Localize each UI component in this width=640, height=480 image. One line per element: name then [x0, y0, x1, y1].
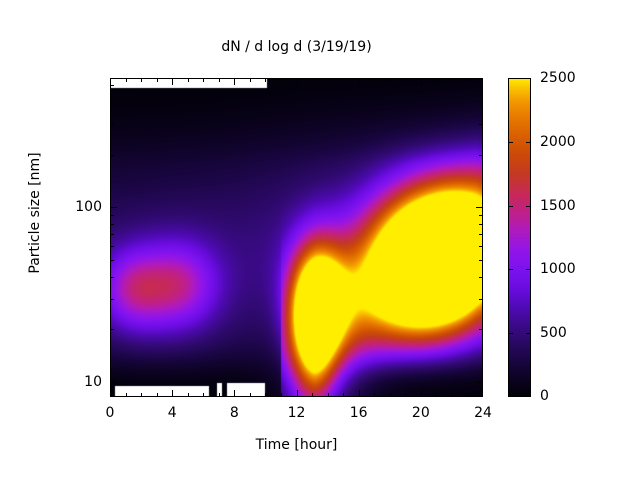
y-minor-tick [479, 260, 483, 261]
x-minor-tick [265, 78, 266, 82]
y-minor-tick [110, 102, 114, 103]
x-major-tick [172, 78, 173, 85]
y-minor-tick [479, 155, 483, 156]
x-tick-label: 0 [106, 405, 115, 421]
colorbar-tick-label: 1500 [540, 198, 576, 214]
x-major-tick [110, 78, 111, 85]
x-major-tick [172, 390, 173, 397]
x-major-tick [359, 390, 360, 397]
x-minor-tick [265, 393, 266, 397]
y-minor-tick [110, 85, 114, 86]
x-minor-tick [390, 78, 391, 82]
colorbar-tick [526, 142, 531, 143]
x-minor-tick [219, 78, 220, 82]
x-minor-tick [436, 78, 437, 82]
y-minor-tick [479, 277, 483, 278]
x-minor-tick [203, 393, 204, 397]
x-major-tick [482, 390, 483, 397]
x-minor-tick [328, 393, 329, 397]
colorbar-tick [526, 206, 531, 207]
x-minor-tick [390, 393, 391, 397]
x-major-tick [421, 390, 422, 397]
y-minor-tick [110, 224, 114, 225]
y-minor-tick [479, 234, 483, 235]
x-minor-tick [452, 78, 453, 82]
x-tick-label: 24 [474, 405, 492, 421]
x-tick-label: 8 [230, 405, 239, 421]
colorbar-tick [526, 333, 531, 334]
x-minor-tick [157, 393, 158, 397]
y-minor-tick [479, 246, 483, 247]
colorbar-tick-label: 0 [540, 388, 549, 404]
colorbar-tick [508, 269, 513, 270]
x-minor-tick [374, 78, 375, 82]
colorbar-gradient [508, 78, 531, 397]
x-minor-tick [405, 78, 406, 82]
colorbar-tick [526, 269, 531, 270]
y-minor-tick [110, 155, 114, 156]
x-tick-label: 12 [288, 405, 306, 421]
colorbar-tick-label: 500 [540, 325, 567, 341]
x-major-tick [297, 78, 298, 85]
y-minor-tick [479, 102, 483, 103]
x-minor-tick [219, 393, 220, 397]
y-major-tick [110, 207, 117, 208]
y-minor-tick [479, 390, 483, 391]
y-major-tick [476, 382, 483, 383]
x-minor-tick [405, 393, 406, 397]
y-minor-tick [479, 299, 483, 300]
y-minor-tick [479, 85, 483, 86]
x-minor-tick [467, 78, 468, 82]
figure-canvas: dN / d log d (3/19/19) 04812162024 10100… [0, 0, 640, 480]
x-minor-tick [281, 78, 282, 82]
x-minor-tick [343, 78, 344, 82]
x-minor-tick [343, 393, 344, 397]
x-minor-tick [188, 78, 189, 82]
x-minor-tick [203, 78, 204, 82]
x-major-tick [359, 78, 360, 85]
x-minor-tick [436, 393, 437, 397]
y-minor-tick [479, 329, 483, 330]
x-minor-tick [281, 393, 282, 397]
y-minor-tick [110, 246, 114, 247]
colorbar[interactable] [508, 78, 531, 397]
x-minor-tick [312, 78, 313, 82]
colorbar-tick [508, 142, 513, 143]
y-tick-label: 100 [52, 199, 102, 215]
y-minor-tick [479, 124, 483, 125]
y-major-tick [476, 207, 483, 208]
y-axis-title: Particle size [nm] [27, 113, 43, 313]
x-major-tick [234, 78, 235, 85]
colorbar-tick-label: 2000 [540, 134, 576, 150]
x-minor-tick [452, 393, 453, 397]
x-minor-tick [141, 393, 142, 397]
x-tick-label: 4 [168, 405, 177, 421]
x-minor-tick [188, 393, 189, 397]
y-minor-tick [110, 234, 114, 235]
y-major-tick [110, 382, 117, 383]
x-major-tick [297, 390, 298, 397]
x-minor-tick [250, 78, 251, 82]
y-minor-tick [110, 260, 114, 261]
heatmap-image [110, 78, 483, 397]
colorbar-tick [508, 333, 513, 334]
x-minor-tick [374, 393, 375, 397]
colorbar-tick-label: 2500 [540, 70, 576, 86]
heatmap-plot-area[interactable] [110, 78, 483, 397]
y-minor-tick [110, 299, 114, 300]
y-minor-tick [110, 277, 114, 278]
x-major-tick [234, 390, 235, 397]
x-tick-label: 20 [412, 405, 430, 421]
y-minor-tick [110, 390, 114, 391]
x-minor-tick [141, 78, 142, 82]
page-title: dN / d log d (3/19/19) [110, 39, 483, 55]
x-minor-tick [328, 78, 329, 82]
y-minor-tick [479, 215, 483, 216]
x-minor-tick [126, 393, 127, 397]
colorbar-tick [508, 206, 513, 207]
y-minor-tick [110, 329, 114, 330]
x-minor-tick [250, 393, 251, 397]
x-major-tick [482, 78, 483, 85]
x-axis-title: Time [hour] [110, 437, 483, 453]
x-tick-label: 16 [350, 405, 368, 421]
x-major-tick [421, 78, 422, 85]
x-minor-tick [467, 393, 468, 397]
y-tick-label: 10 [52, 374, 102, 390]
y-minor-tick [110, 124, 114, 125]
colorbar-tick-label: 1000 [540, 261, 576, 277]
x-minor-tick [126, 78, 127, 82]
y-minor-tick [479, 224, 483, 225]
x-minor-tick [157, 78, 158, 82]
y-minor-tick [110, 215, 114, 216]
x-minor-tick [312, 393, 313, 397]
x-major-tick [110, 390, 111, 397]
